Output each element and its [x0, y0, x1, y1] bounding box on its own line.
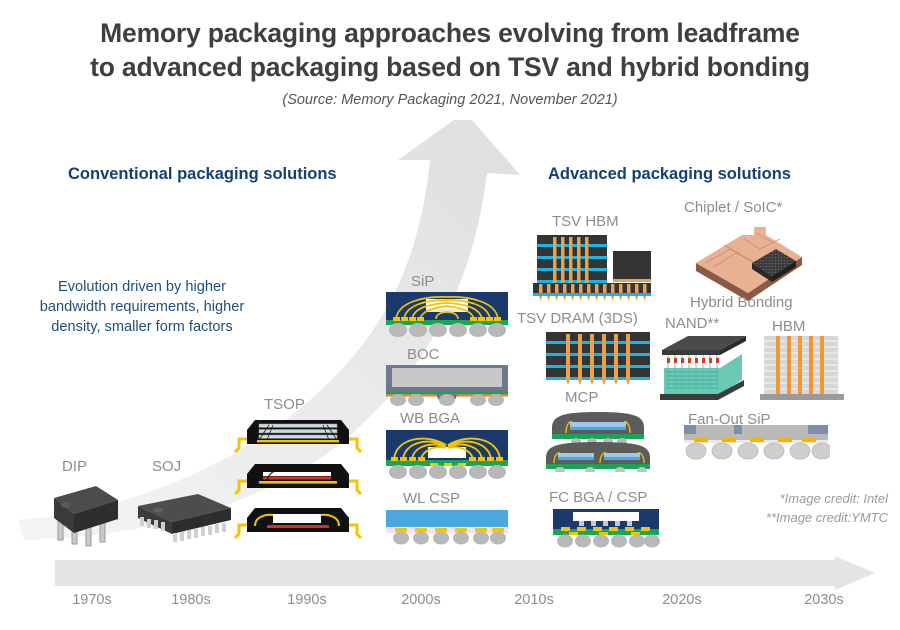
timeline-tick-1990s: 1990s — [287, 592, 327, 608]
pkg-illustration-dip — [44, 478, 126, 548]
pkg-label-tsv-dram: TSV DRAM (3DS) — [517, 310, 638, 327]
pkg-label-fan-out-sip: Fan-Out SiP — [688, 411, 771, 428]
pkg-illustration-fc-bga-csp — [551, 509, 661, 549]
timeline-tick-2010s: 2010s — [514, 592, 554, 608]
pkg-label-wb-bga: WB BGA — [400, 410, 460, 427]
pkg-illustration-tsv-hbm — [531, 235, 655, 303]
credit-ymtc: **Image credit:YMTC — [766, 509, 888, 528]
timeline-tick-1970s: 1970s — [72, 592, 112, 608]
pkg-illustration-boc — [384, 365, 510, 407]
pkg-label-wl-csp: WL CSP — [403, 490, 460, 507]
pkg-illustration-tsop — [233, 418, 363, 548]
pkg-label-dip: DIP — [62, 458, 87, 475]
pkg-label-sip: SiP — [411, 273, 434, 290]
credit-intel: *Image credit: Intel — [766, 490, 888, 509]
pkg-illustration-fan-out-sip — [682, 425, 830, 461]
evolution-blurb: Evolution driven by higher bandwidth req… — [26, 277, 258, 337]
section-header-conventional: Conventional packaging solutions — [68, 165, 337, 184]
pkg-label-hbm: HBM — [772, 318, 805, 335]
pkg-label-nand: NAND** — [665, 315, 719, 332]
pkg-label-mcp: MCP — [565, 389, 598, 406]
pkg-illustration-wb-bga — [384, 430, 510, 480]
timeline-tick-2020s: 2020s — [662, 592, 702, 608]
page-title-line1: Memory packaging approaches evolving fro… — [0, 16, 900, 50]
title-block: Memory packaging approaches evolving fro… — [0, 16, 900, 108]
pkg-illustration-hbm — [760, 336, 844, 406]
timeline-arrow — [55, 556, 875, 590]
pkg-label-fc-bga-csp: FC BGA / CSP — [549, 489, 647, 506]
pkg-illustration-tsv-dram — [546, 332, 650, 386]
section-header-advanced: Advanced packaging solutions — [548, 165, 791, 184]
pkg-label-boc: BOC — [407, 346, 440, 363]
timeline-tick-2000s: 2000s — [401, 592, 441, 608]
pkg-label-hybrid-bonding: Hybrid Bonding — [690, 294, 793, 311]
timeline-tick-1980s: 1980s — [171, 592, 211, 608]
image-credits: *Image credit: Intel **Image credit:YMTC — [766, 490, 888, 528]
pkg-illustration-chiplet-soic — [690, 223, 810, 305]
pkg-illustration-wl-csp — [384, 510, 510, 546]
slide-canvas: Memory packaging approaches evolving fro… — [0, 0, 900, 630]
pkg-label-chiplet-soic: Chiplet / SoIC* — [684, 199, 782, 216]
pkg-label-soj: SOJ — [152, 458, 181, 475]
pkg-illustration-soj — [132, 490, 237, 548]
pkg-label-tsv-hbm: TSV HBM — [552, 213, 619, 230]
page-title-line2: to advanced packaging based on TSV and h… — [0, 50, 900, 84]
timeline-tick-2030s: 2030s — [804, 592, 844, 608]
pkg-illustration-nand — [658, 334, 750, 406]
pkg-label-tsop: TSOP — [264, 396, 305, 413]
source-note: (Source: Memory Packaging 2021, November… — [0, 92, 900, 108]
pkg-illustration-sip — [384, 292, 510, 338]
pkg-illustration-mcp — [542, 410, 654, 472]
